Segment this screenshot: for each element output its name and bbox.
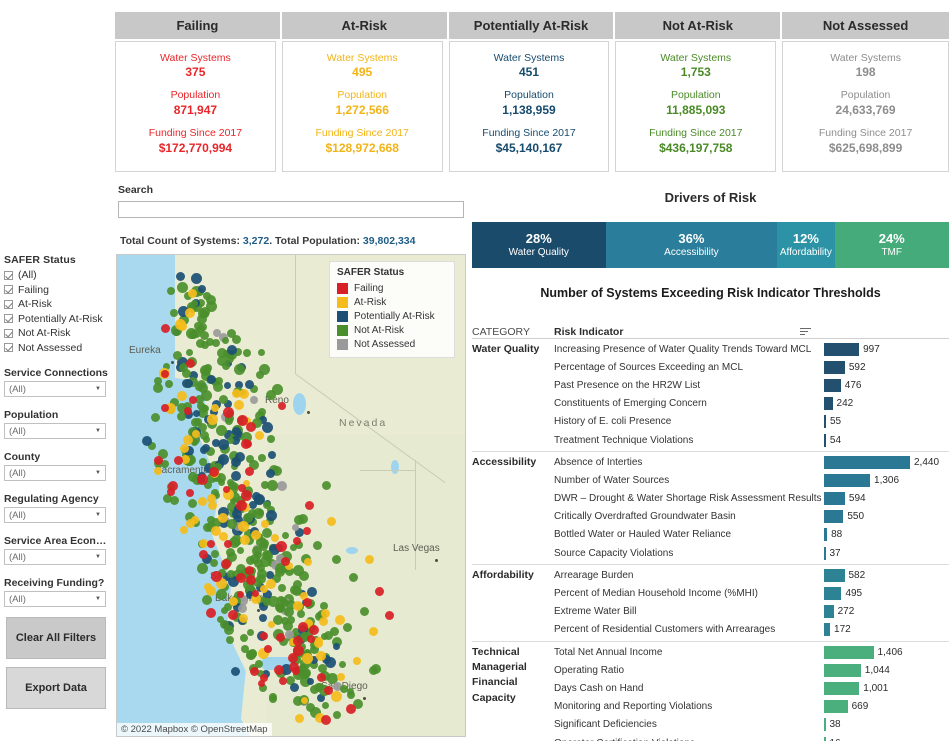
- water-systems-map[interactable]: EurekaRenoNevadaLas VegasSacramentoSan J…: [116, 254, 466, 737]
- drivers-of-risk-title: Drivers of Risk: [472, 190, 949, 205]
- table-row[interactable]: Treatment Technique Violations54: [554, 431, 949, 449]
- map-point-at-risk[interactable]: [239, 614, 248, 623]
- filter-label: Service Connections: [4, 367, 113, 379]
- table-row[interactable]: Significant Deficiencies38: [554, 716, 949, 734]
- safer-status-checkbox-list: (All)FailingAt-RiskPotentially At-RiskNo…: [0, 268, 113, 355]
- map-point-not-at-risk[interactable]: [332, 555, 341, 564]
- map-point-at-risk[interactable]: [177, 391, 187, 401]
- map-point-failing[interactable]: [245, 566, 254, 575]
- risk-indicator-value: 495: [845, 588, 862, 599]
- risk-indicator-bar: [824, 700, 848, 713]
- kpi-metric-value: 495: [327, 65, 398, 80]
- map-point-at-risk[interactable]: [192, 430, 200, 438]
- map-point-failing[interactable]: [279, 677, 287, 685]
- map-point-at-risk[interactable]: [319, 617, 328, 626]
- map-point-not-at-risk[interactable]: [258, 349, 265, 356]
- map-point-failing[interactable]: [189, 396, 197, 404]
- map-point-not-at-risk[interactable]: [177, 282, 188, 293]
- map-point-not-at-risk[interactable]: [201, 390, 212, 401]
- filter-select-regulating-agency[interactable]: (All)▼: [4, 507, 106, 523]
- map-point-failing[interactable]: [237, 591, 244, 598]
- map-point-not-at-risk[interactable]: [256, 371, 264, 379]
- map-point-at-risk[interactable]: [369, 627, 378, 636]
- map-point-failing[interactable]: [246, 422, 256, 432]
- risk-indicator-rows: Total Net Annual Income1,406Operating Ra…: [554, 643, 949, 741]
- map-point-potentially-at-risk[interactable]: [307, 587, 317, 597]
- risk-indicator-name: Total Net Annual Income: [554, 647, 824, 658]
- kpi-metric-label: Population: [502, 89, 555, 102]
- table-row[interactable]: History of E. coli Presence55: [554, 413, 949, 431]
- map-point-not-at-risk[interactable]: [221, 607, 228, 614]
- total-count-label: Total Count of Systems:: [120, 235, 240, 247]
- safer-status-checkbox-not-assessed[interactable]: Not Assessed: [4, 341, 113, 356]
- risk-indicator-value: 16: [830, 738, 841, 741]
- map-point-failing[interactable]: [186, 359, 195, 368]
- map-point-not-at-risk[interactable]: [252, 546, 262, 556]
- driver-segment-affordability[interactable]: 12%Affordability: [777, 222, 834, 268]
- map-point-at-risk[interactable]: [268, 621, 275, 628]
- kpi-metric-value: $172,770,994: [149, 141, 242, 156]
- risk-indicator-name: Treatment Technique Violations: [554, 435, 824, 446]
- search-area: Search: [118, 184, 464, 218]
- map-city-marker-icon: [307, 411, 310, 414]
- map-point-not-at-risk[interactable]: [202, 595, 212, 605]
- risk-indicator-bar: [824, 434, 826, 447]
- map-point-potentially-at-risk[interactable]: [307, 678, 314, 685]
- map-point-not-assessed[interactable]: [292, 524, 299, 531]
- map-point-not-at-risk[interactable]: [167, 287, 175, 295]
- map-point-potentially-at-risk[interactable]: [218, 439, 229, 450]
- map-point-not-at-risk[interactable]: [253, 508, 264, 519]
- table-row[interactable]: Absence of Interties2,440: [554, 453, 949, 471]
- map-point-not-at-risk[interactable]: [258, 454, 266, 462]
- totals-separator: .: [269, 235, 272, 247]
- checkbox-icon[interactable]: [4, 314, 13, 323]
- export-data-button[interactable]: Export Data: [6, 667, 106, 709]
- map-point-failing[interactable]: [307, 635, 315, 643]
- map-point-at-risk[interactable]: [316, 651, 326, 661]
- kpi-metric: Water Systems1,753: [660, 52, 731, 81]
- risk-indicator-bar-cell: 1,406: [824, 646, 949, 659]
- map-point-failing[interactable]: [154, 456, 163, 465]
- kpi-card-body: Water Systems1,753Population11,885,093Fu…: [615, 41, 776, 172]
- map-point-not-at-risk[interactable]: [191, 300, 198, 307]
- total-population-value: 39,802,334: [363, 235, 416, 247]
- map-point-not-at-risk[interactable]: [191, 418, 200, 427]
- map-point-not-at-risk[interactable]: [227, 570, 235, 578]
- table-row[interactable]: Bottled Water or Hauled Water Reliance88: [554, 526, 949, 544]
- table-row[interactable]: DWR – Drought & Water Shortage Risk Asse…: [554, 490, 949, 508]
- filter-group: Service Connections(All)▼: [4, 367, 113, 397]
- map-point-failing[interactable]: [346, 704, 356, 714]
- risk-category-group: Technical Managerial Financial CapacityT…: [472, 642, 949, 741]
- filter-select-value: (All): [9, 426, 26, 437]
- map-lake-tahoe: [293, 393, 306, 415]
- total-population-label: Total Population:: [275, 235, 360, 247]
- risk-indicator-rows: Increasing Presence of Water Quality Tre…: [554, 340, 949, 449]
- map-point-failing[interactable]: [317, 673, 326, 682]
- map-point-failing[interactable]: [298, 622, 308, 632]
- risk-indicator-bar-cell: 1,001: [824, 682, 949, 695]
- safer-status-checkbox--all-[interactable]: (All): [4, 268, 113, 283]
- map-point-not-at-risk[interactable]: [206, 295, 216, 305]
- map-point-failing[interactable]: [250, 667, 259, 676]
- checkbox-icon[interactable]: [4, 300, 13, 309]
- table-row[interactable]: Critically Overdrafted Groundwater Basin…: [554, 508, 949, 526]
- table-row[interactable]: Increasing Presence of Water Quality Tre…: [554, 340, 949, 358]
- chevron-down-icon[interactable]: ▼: [95, 470, 101, 476]
- map-point-at-risk[interactable]: [337, 673, 345, 681]
- table-row[interactable]: Days Cash on Hand1,001: [554, 679, 949, 697]
- filter-group: Service Area Econ…(All)▼: [4, 535, 113, 565]
- kpi-metric-label: Water Systems: [327, 52, 398, 65]
- map-point-failing[interactable]: [197, 474, 208, 485]
- table-row[interactable]: Past Presence on the HR2W List476: [554, 376, 949, 394]
- map-point-at-risk[interactable]: [302, 653, 313, 664]
- map-legend-item: Not At-Risk: [337, 323, 447, 337]
- map-point-potentially-at-risk[interactable]: [193, 410, 200, 417]
- chevron-down-icon[interactable]: ▼: [95, 596, 101, 602]
- kpi-metric-value: 1,753: [660, 65, 731, 80]
- kpi-metric-value: $128,972,668: [315, 141, 408, 156]
- map-point-not-at-risk[interactable]: [299, 571, 309, 581]
- map-point-not-at-risk[interactable]: [219, 395, 228, 404]
- kpi-metric-label: Water Systems: [830, 52, 901, 65]
- filter-select-value: (All): [9, 510, 26, 521]
- risk-indicator-rows: Absence of Interties2,440Number of Water…: [554, 453, 949, 562]
- risk-indicator-bar: [824, 718, 826, 731]
- map-legend-label: Potentially At-Risk: [354, 311, 435, 322]
- map-point-potentially-at-risk[interactable]: [142, 436, 152, 446]
- map-point-failing[interactable]: [274, 665, 284, 675]
- map-point-failing[interactable]: [324, 686, 333, 695]
- risk-indicator-table-header: CATEGORY Risk Indicator: [472, 322, 949, 339]
- map-city-marker-icon: [435, 559, 438, 562]
- checkbox-icon[interactable]: [4, 343, 13, 352]
- map-point-potentially-at-risk[interactable]: [268, 451, 276, 459]
- kpi-metric-value: 451: [494, 65, 565, 80]
- risk-indicator-name: Number of Water Sources: [554, 475, 824, 486]
- risk-indicator-bar: [824, 456, 910, 469]
- map-point-not-at-risk[interactable]: [280, 597, 287, 604]
- risk-indicator-value: 1,406: [878, 647, 903, 658]
- map-point-not-at-risk[interactable]: [371, 664, 381, 674]
- map-point-at-risk[interactable]: [207, 414, 218, 425]
- driver-name: Water Quality: [509, 247, 569, 260]
- map-point-not-at-risk[interactable]: [347, 688, 354, 695]
- map-point-failing[interactable]: [385, 611, 394, 620]
- map-point-at-risk[interactable]: [183, 435, 193, 445]
- map-point-potentially-at-risk[interactable]: [290, 683, 299, 692]
- map-point-not-at-risk[interactable]: [226, 636, 234, 644]
- map-point-failing[interactable]: [375, 587, 384, 596]
- filter-label: County: [4, 451, 113, 463]
- table-row[interactable]: Number of Water Sources1,306: [554, 471, 949, 489]
- risk-category-group: AffordabilityArrearage Burden582Percent …: [472, 565, 949, 642]
- table-row[interactable]: Total Net Annual Income1,406: [554, 643, 949, 661]
- map-legend-title: SAFER Status: [337, 267, 447, 278]
- risk-indicator-name: Critically Overdrafted Groundwater Basin: [554, 511, 824, 522]
- risk-indicator-value: 1,306: [874, 475, 899, 486]
- map-point-potentially-at-risk[interactable]: [202, 444, 210, 452]
- map-point-not-at-risk[interactable]: [255, 660, 263, 668]
- kpi-metric-label: Water Systems: [494, 52, 565, 65]
- risk-indicator-bar-cell: 16: [824, 737, 949, 741]
- map-point-at-risk[interactable]: [154, 467, 162, 475]
- map-point-not-at-risk[interactable]: [222, 337, 229, 344]
- map-point-failing[interactable]: [305, 501, 314, 510]
- map-point-not-at-risk[interactable]: [266, 390, 276, 400]
- filter-group: Population(All)▼: [4, 409, 113, 439]
- map-point-not-at-risk[interactable]: [257, 569, 267, 579]
- drivers-of-risk-bar: 28%Water Quality36%Accessibility12%Affor…: [472, 222, 949, 268]
- map-legend-item: Not Assessed: [337, 337, 447, 351]
- driver-percent: 36%: [678, 231, 704, 247]
- driver-name: TMF: [881, 247, 902, 260]
- risk-indicator-bar: [824, 623, 830, 636]
- map-point-not-at-risk[interactable]: [322, 481, 331, 490]
- safer-status-checkbox-at-risk[interactable]: At-Risk: [4, 297, 113, 312]
- map-point-failing[interactable]: [292, 667, 300, 675]
- map-point-not-at-risk[interactable]: [220, 620, 229, 629]
- risk-indicator-value: 2,440: [914, 457, 939, 468]
- map-point-not-at-risk[interactable]: [343, 623, 352, 632]
- risk-indicator-bar: [824, 664, 861, 677]
- risk-indicator-bar-cell: 55: [824, 415, 949, 428]
- map-point-at-risk[interactable]: [365, 555, 374, 564]
- map-point-potentially-at-risk[interactable]: [259, 614, 267, 622]
- map-point-not-assessed[interactable]: [238, 604, 247, 613]
- filter-select-county[interactable]: (All)▼: [4, 465, 106, 481]
- map-point-not-at-risk[interactable]: [182, 369, 191, 378]
- map-point-not-at-risk[interactable]: [339, 661, 346, 668]
- map-point-at-risk[interactable]: [327, 517, 336, 526]
- risk-indicator-bar-cell: 495: [824, 587, 949, 600]
- driver-segment-accessibility[interactable]: 36%Accessibility: [606, 222, 778, 268]
- risk-indicator-bar-cell: 476: [824, 379, 949, 392]
- map-point-failing[interactable]: [228, 610, 238, 620]
- map-point-at-risk[interactable]: [206, 586, 216, 596]
- risk-indicator-name: Operating Ratio: [554, 665, 824, 676]
- driver-segment-water-quality[interactable]: 28%Water Quality: [472, 222, 606, 268]
- table-row[interactable]: Constituents of Emerging Concern242: [554, 395, 949, 413]
- checkbox-icon[interactable]: [4, 329, 13, 338]
- chevron-down-icon[interactable]: ▼: [95, 386, 101, 392]
- table-row[interactable]: Monitoring and Reporting Violations669: [554, 698, 949, 716]
- risk-indicator-bar-cell: 1,306: [824, 474, 949, 487]
- safer-status-checkbox-potentially-at-risk[interactable]: Potentially At-Risk: [4, 312, 113, 327]
- kpi-card-title: At-Risk: [282, 12, 449, 39]
- filter-label: Service Area Econ…: [4, 535, 113, 547]
- column-header-risk-indicator: Risk Indicator: [554, 326, 949, 338]
- column-header-category: CATEGORY: [472, 326, 554, 338]
- map-point-at-risk[interactable]: [180, 526, 188, 534]
- kpi-metric-value: $625,698,899: [819, 141, 912, 156]
- kpi-metric: Water Systems198: [830, 52, 901, 81]
- clear-all-filters-button[interactable]: Clear All Filters: [6, 617, 106, 659]
- filter-label: Regulating Agency: [4, 493, 113, 505]
- map-point-at-risk[interactable]: [238, 521, 249, 532]
- driver-segment-tmf[interactable]: 24%TMF: [835, 222, 949, 268]
- total-count-value: 3,272: [243, 235, 269, 247]
- map-point-failing[interactable]: [245, 467, 254, 476]
- map-point-potentially-at-risk[interactable]: [224, 382, 231, 389]
- risk-indicator-name: Extreme Water Bill: [554, 606, 824, 617]
- filter-select-value: (All): [9, 552, 26, 563]
- map-point-not-at-risk[interactable]: [197, 402, 205, 410]
- filter-dropdown-list: Service Connections(All)▼Population(All)…: [0, 367, 113, 607]
- map-point-potentially-at-risk[interactable]: [227, 345, 237, 355]
- kpi-metric: Funding Since 2017$625,698,899: [819, 127, 912, 156]
- table-row[interactable]: Extreme Water Bill272: [554, 603, 949, 621]
- checkbox-label: Failing: [18, 284, 49, 296]
- risk-indicator-bar: [824, 528, 827, 541]
- risk-indicator-name: Significant Deficiencies: [554, 719, 824, 730]
- kpi-card-body: Water Systems451Population1,138,959Fundi…: [449, 41, 610, 172]
- kpi-summary-band: FailingWater Systems375Population871,947…: [115, 12, 949, 172]
- risk-indicator-value: 88: [831, 529, 842, 540]
- map-point-potentially-at-risk[interactable]: [231, 457, 241, 467]
- kpi-metric: Population1,272,566: [336, 89, 389, 118]
- map-point-not-at-risk[interactable]: [188, 499, 197, 508]
- map-point-at-risk[interactable]: [185, 308, 195, 318]
- risk-indicator-value: 54: [830, 435, 841, 446]
- kpi-metric-value: 1,272,566: [336, 103, 389, 118]
- table-row[interactable]: Percent of Median Household Income (%MHI…: [554, 584, 949, 602]
- map-lake-mead: [346, 547, 358, 554]
- map-legend: SAFER Status FailingAt-RiskPotentially A…: [329, 261, 455, 358]
- kpi-metric: Water Systems495: [327, 52, 398, 81]
- kpi-metric-label: Funding Since 2017: [819, 127, 912, 140]
- checkbox-label: Potentially At-Risk: [18, 313, 103, 325]
- map-point-at-risk[interactable]: [208, 501, 217, 510]
- filter-select-population[interactable]: (All)▼: [4, 423, 106, 439]
- map-point-not-at-risk[interactable]: [269, 695, 277, 703]
- kpi-card-at-risk: At-RiskWater Systems495Population1,272,5…: [282, 12, 449, 172]
- kpi-card-title: Potentially At-Risk: [449, 12, 616, 39]
- map-point-not-at-risk[interactable]: [200, 307, 210, 317]
- map-point-at-risk[interactable]: [353, 657, 361, 665]
- risk-indicator-name: Days Cash on Hand: [554, 683, 824, 694]
- checkbox-icon[interactable]: [4, 285, 13, 294]
- safer-status-checkbox-failing[interactable]: Failing: [4, 283, 113, 298]
- kpi-metric-value: 11,885,093: [666, 103, 725, 118]
- risk-category-label: Affordability: [472, 566, 554, 639]
- map-point-at-risk[interactable]: [234, 400, 244, 410]
- map-point-potentially-at-risk[interactable]: [252, 492, 261, 501]
- risk-indicator-value: 242: [837, 398, 854, 409]
- risk-indicator-name: Percent of Median Household Income (%MHI…: [554, 588, 824, 599]
- filter-select-receiving-funding-[interactable]: (All)▼: [4, 591, 106, 607]
- risk-indicator-value: 550: [847, 511, 864, 522]
- chevron-down-icon[interactable]: ▼: [95, 554, 101, 560]
- table-row[interactable]: Arrearage Burden582: [554, 566, 949, 584]
- risk-indicator-bar-cell: 592: [824, 361, 949, 374]
- chevron-down-icon[interactable]: ▼: [95, 428, 101, 434]
- map-point-failing[interactable]: [244, 440, 252, 448]
- map-point-potentially-at-risk[interactable]: [266, 469, 275, 478]
- map-legend-rows: FailingAt-RiskPotentially At-RiskNot At-…: [337, 281, 447, 351]
- map-point-failing[interactable]: [161, 324, 170, 333]
- map-point-failing[interactable]: [309, 625, 319, 635]
- map-point-at-risk[interactable]: [331, 691, 342, 702]
- risk-indicator-bar: [824, 492, 845, 505]
- table-row[interactable]: Percentage of Sources Exceeding an MCL59…: [554, 358, 949, 376]
- map-point-not-at-risk[interactable]: [287, 616, 295, 624]
- risk-indicator-bar: [824, 474, 870, 487]
- filter-select-service-connections[interactable]: (All)▼: [4, 381, 106, 397]
- safer-status-checkbox-not-at-risk[interactable]: Not At-Risk: [4, 326, 113, 341]
- kpi-metric-label: Funding Since 2017: [315, 127, 408, 140]
- filter-select-service-area-econ-[interactable]: (All)▼: [4, 549, 106, 565]
- map-point-not-at-risk[interactable]: [188, 472, 198, 482]
- table-row[interactable]: Source Capacity Violations37: [554, 544, 949, 562]
- risk-indicator-name: Percent of Residential Customers with Ar…: [554, 624, 824, 635]
- risk-indicator-bar-cell: 54: [824, 434, 949, 447]
- risk-indicator-bar: [824, 646, 874, 659]
- map-point-potentially-at-risk[interactable]: [207, 375, 216, 384]
- checkbox-label: At-Risk: [18, 298, 52, 310]
- map-point-failing[interactable]: [199, 550, 208, 559]
- risk-indicator-name: DWR – Drought & Water Shortage Risk Asse…: [554, 493, 824, 504]
- legend-swatch-icon: [337, 339, 348, 350]
- map-point-not-at-risk[interactable]: [290, 544, 297, 551]
- map-point-failing[interactable]: [258, 680, 265, 687]
- map-point-potentially-at-risk[interactable]: [333, 643, 340, 650]
- kpi-metric-label: Population: [836, 89, 896, 102]
- map-point-not-at-risk[interactable]: [170, 496, 179, 505]
- map-point-at-risk[interactable]: [304, 558, 312, 566]
- map-point-at-risk[interactable]: [301, 697, 308, 704]
- map-point-failing[interactable]: [161, 404, 169, 412]
- map-point-not-at-risk[interactable]: [322, 702, 329, 709]
- risk-category-label: Technical Managerial Financial Capacity: [472, 643, 554, 741]
- map-point-failing[interactable]: [206, 608, 216, 618]
- chevron-down-icon[interactable]: ▼: [95, 512, 101, 518]
- map-point-not-at-risk[interactable]: [360, 607, 369, 616]
- risk-indicator-bar: [824, 587, 841, 600]
- table-row[interactable]: Operating Ratio1,044: [554, 661, 949, 679]
- map-point-failing[interactable]: [223, 407, 234, 418]
- kpi-metric-label: Water Systems: [660, 52, 731, 65]
- checkbox-icon[interactable]: [4, 271, 13, 280]
- map-point-failing[interactable]: [209, 467, 219, 477]
- search-input[interactable]: [118, 201, 464, 218]
- table-row[interactable]: Operator Certification Violations16: [554, 734, 949, 741]
- map-point-at-risk[interactable]: [229, 597, 238, 606]
- map-point-at-risk[interactable]: [293, 601, 303, 611]
- map-point-not-at-risk[interactable]: [313, 541, 322, 550]
- kpi-card-not-assessed: Not AssessedWater Systems198Population24…: [782, 12, 949, 172]
- risk-indicator-name: Percentage of Sources Exceeding an MCL: [554, 362, 824, 373]
- risk-indicator-bar-cell: 88: [824, 528, 949, 541]
- map-point-not-at-risk[interactable]: [349, 573, 358, 582]
- table-row[interactable]: Percent of Residential Customers with Ar…: [554, 621, 949, 639]
- map-point-not-at-risk[interactable]: [240, 634, 248, 642]
- map-point-not-at-risk[interactable]: [278, 584, 286, 592]
- map-point-not-at-risk[interactable]: [212, 339, 220, 347]
- map-point-at-risk[interactable]: [251, 530, 261, 540]
- risk-indicator-value: 594: [849, 493, 866, 504]
- map-point-failing[interactable]: [237, 415, 248, 426]
- checkbox-label: Not At-Risk: [18, 327, 71, 339]
- risk-indicator-name: Arrearage Burden: [554, 570, 824, 581]
- totals-summary: Total Count of Systems: 3,272. Total Pop…: [120, 235, 415, 247]
- sort-icon[interactable]: [800, 328, 811, 336]
- risk-indicator-value: 997: [863, 344, 880, 355]
- kpi-card-body: Water Systems375Population871,947Funding…: [115, 41, 276, 172]
- kpi-metric-label: Funding Since 2017: [649, 127, 742, 140]
